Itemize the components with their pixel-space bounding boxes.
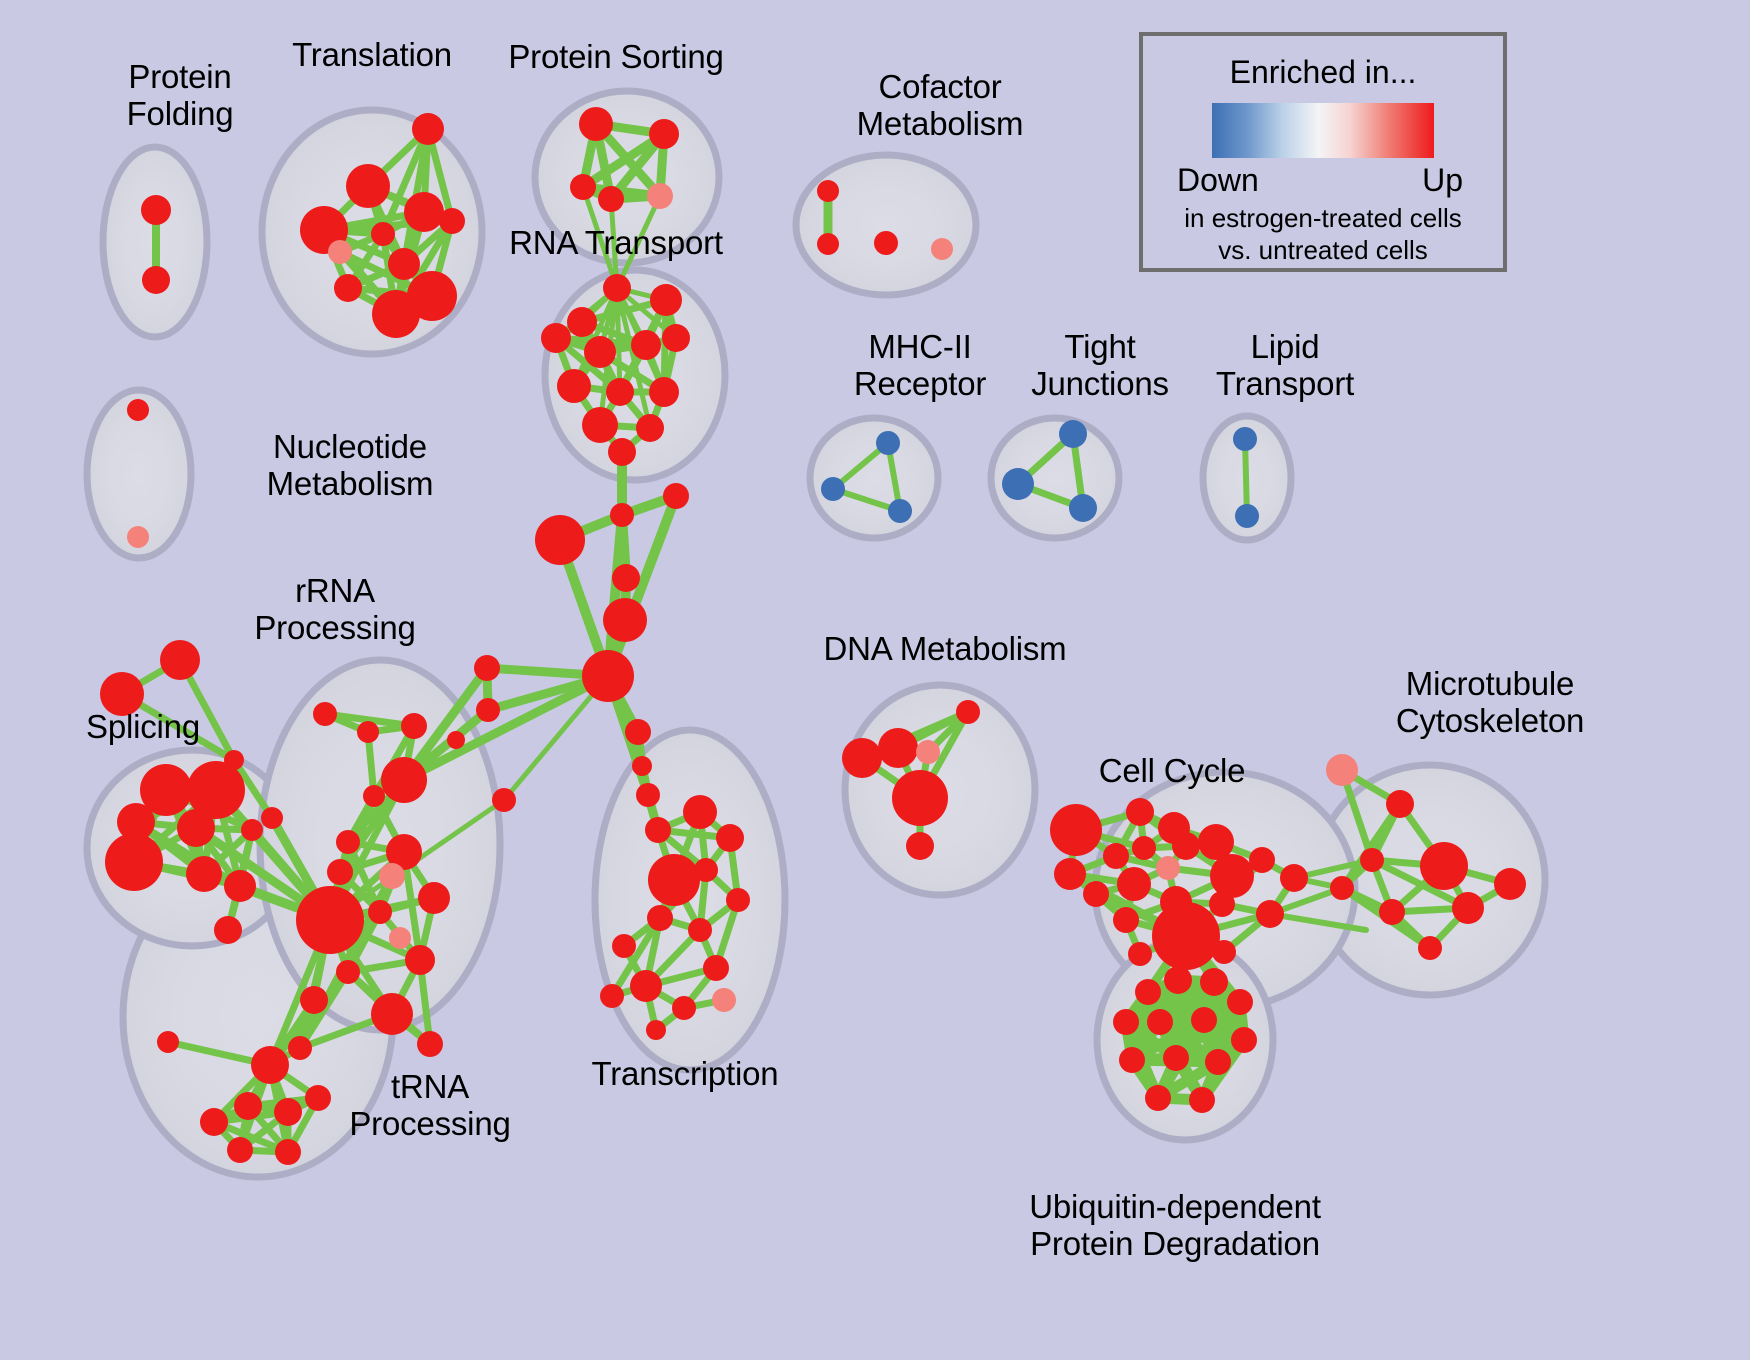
node	[662, 324, 690, 352]
node-down	[888, 499, 912, 523]
node	[234, 1092, 262, 1120]
node	[1227, 989, 1253, 1015]
node	[603, 274, 631, 302]
node	[1379, 899, 1405, 925]
node	[296, 886, 364, 954]
node	[1132, 836, 1156, 860]
node	[1420, 842, 1468, 890]
node	[401, 713, 427, 739]
node	[334, 274, 362, 302]
node	[1209, 891, 1235, 917]
node	[1386, 790, 1414, 818]
node	[906, 832, 934, 860]
node	[368, 900, 392, 924]
node	[1119, 1047, 1145, 1073]
node	[1128, 942, 1152, 966]
node	[336, 960, 360, 984]
enrichment-map-figure: Protein Folding Translation Protein Sort…	[0, 0, 1750, 1360]
node	[300, 986, 328, 1014]
node	[648, 854, 700, 906]
node	[157, 1031, 179, 1053]
node-down	[821, 477, 845, 501]
legend-down-label: Down	[1177, 162, 1259, 199]
legend-subtitle-line1: in estrogen-treated cells	[1143, 204, 1503, 234]
node	[241, 819, 263, 841]
node	[371, 222, 395, 246]
node	[649, 119, 679, 149]
node	[646, 1020, 666, 1040]
legend-subtitle-line2: vs. untreated cells	[1143, 236, 1503, 266]
node	[608, 438, 636, 466]
node	[694, 858, 718, 882]
node	[612, 934, 636, 958]
node	[874, 231, 898, 255]
node	[612, 564, 640, 592]
node	[1145, 1085, 1171, 1111]
node-midtone	[712, 988, 736, 1012]
node	[650, 284, 682, 316]
halo-cofactor-metabolism	[796, 155, 976, 295]
node	[476, 698, 500, 722]
node-midtone	[1156, 856, 1180, 880]
node	[141, 195, 171, 225]
node	[630, 970, 662, 1002]
node	[404, 192, 444, 232]
node-midtone	[127, 526, 149, 548]
node	[631, 330, 661, 360]
node	[1360, 848, 1384, 872]
node	[1172, 832, 1200, 860]
node	[582, 650, 634, 702]
node	[1418, 936, 1442, 960]
node-midtone	[389, 927, 411, 949]
node	[346, 164, 390, 208]
node	[274, 1098, 302, 1126]
node	[1249, 847, 1275, 873]
node	[1191, 1007, 1217, 1033]
node	[412, 113, 444, 145]
node	[381, 757, 427, 803]
node-midtone	[1326, 754, 1358, 786]
node	[878, 728, 918, 768]
node	[1054, 858, 1086, 890]
node	[336, 830, 360, 854]
node	[567, 307, 597, 337]
node	[1200, 968, 1228, 996]
node	[1050, 804, 1102, 856]
legend-box: Enriched in... Down Up in estrogen-treat…	[1139, 32, 1507, 272]
node	[447, 731, 465, 749]
node-midtone	[379, 863, 405, 889]
node-midtone	[916, 740, 940, 764]
node	[186, 856, 222, 892]
node	[535, 515, 585, 565]
node-midtone	[328, 240, 352, 264]
node	[645, 817, 671, 843]
node	[1452, 892, 1484, 924]
node	[610, 503, 634, 527]
node	[817, 180, 839, 202]
node	[417, 1031, 443, 1057]
node	[557, 369, 591, 403]
node	[603, 598, 647, 642]
node	[1231, 1027, 1257, 1053]
node	[227, 1137, 253, 1163]
node	[598, 186, 624, 212]
legend-endpoints: Down Up	[1173, 162, 1473, 202]
node	[663, 483, 689, 509]
node	[1205, 1049, 1231, 1075]
node	[1330, 876, 1354, 900]
node	[1113, 1009, 1139, 1035]
node	[1147, 1009, 1173, 1035]
node	[160, 640, 200, 680]
node	[842, 738, 882, 778]
node	[363, 785, 385, 807]
node	[683, 795, 717, 829]
node	[275, 1139, 301, 1165]
node	[1117, 867, 1151, 901]
node	[313, 702, 337, 726]
node-down	[1069, 494, 1097, 522]
node	[214, 916, 242, 944]
node	[647, 905, 673, 931]
node	[1135, 979, 1161, 1005]
node	[305, 1085, 331, 1111]
node	[388, 248, 420, 280]
node	[956, 700, 980, 724]
node	[584, 336, 616, 368]
node	[1210, 854, 1254, 898]
node	[892, 770, 948, 826]
node	[541, 323, 571, 353]
node	[261, 807, 283, 829]
node	[357, 721, 379, 743]
node	[570, 174, 596, 200]
node	[1163, 1045, 1189, 1071]
node	[1164, 966, 1192, 994]
node	[1126, 798, 1154, 826]
node	[703, 955, 729, 981]
node	[439, 208, 465, 234]
node	[492, 788, 516, 812]
node	[1256, 900, 1284, 928]
node	[327, 859, 353, 885]
node	[688, 918, 712, 942]
node	[636, 783, 660, 807]
node	[632, 756, 652, 776]
node-down	[1235, 504, 1259, 528]
node	[251, 1046, 289, 1084]
node	[606, 378, 634, 406]
node	[1280, 864, 1308, 892]
node	[726, 888, 750, 912]
node	[1152, 902, 1220, 970]
node	[1189, 1087, 1215, 1113]
node	[582, 407, 618, 443]
node-midtone	[647, 183, 673, 209]
node	[625, 719, 651, 745]
node	[200, 1108, 228, 1136]
node	[716, 824, 744, 852]
node	[105, 833, 163, 891]
node-midtone	[931, 238, 953, 260]
node	[288, 1036, 312, 1060]
node	[579, 107, 613, 141]
node	[405, 945, 435, 975]
node	[177, 809, 215, 847]
node	[142, 266, 170, 294]
legend-up-label: Up	[1422, 162, 1463, 199]
node	[1103, 843, 1129, 869]
node	[224, 870, 256, 902]
node	[817, 233, 839, 255]
node	[418, 882, 450, 914]
node	[1113, 907, 1139, 933]
color-gradient-bar	[1212, 103, 1434, 158]
node	[1083, 881, 1109, 907]
node-down	[1059, 420, 1087, 448]
node-down	[1002, 468, 1034, 500]
legend-title: Enriched in...	[1143, 54, 1503, 91]
node	[100, 672, 144, 716]
node	[371, 993, 413, 1035]
node	[372, 290, 420, 338]
node	[636, 414, 664, 442]
node	[672, 996, 696, 1020]
node	[474, 655, 500, 681]
node	[649, 377, 679, 407]
node	[1494, 868, 1526, 900]
node-down	[1233, 427, 1257, 451]
node	[127, 399, 149, 421]
node	[600, 984, 624, 1008]
node-down	[876, 431, 900, 455]
